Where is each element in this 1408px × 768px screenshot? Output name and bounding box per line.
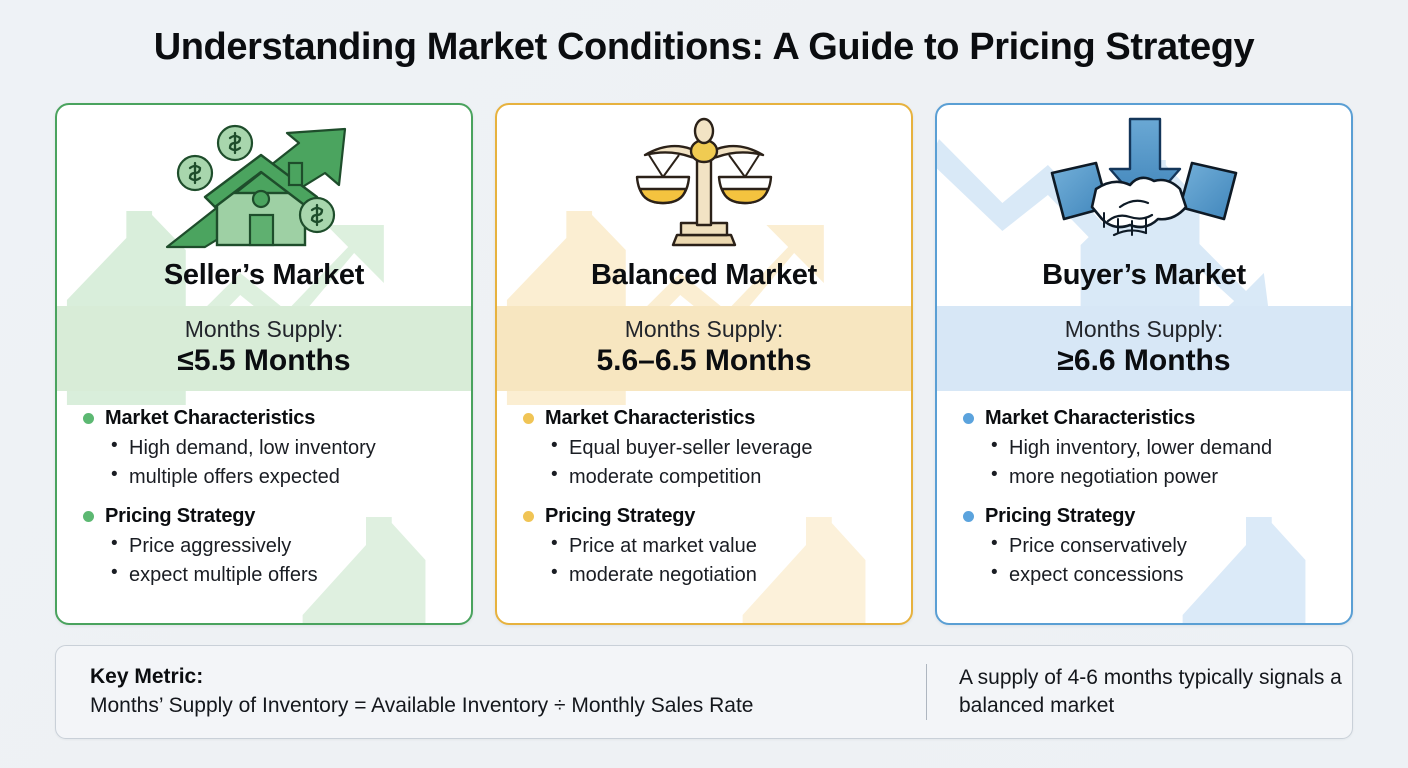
list-item: Equal buyer-seller leverage [551, 434, 911, 462]
section-items: Price aggressively expect multiple offer… [83, 532, 471, 589]
buyers-icon-area [937, 105, 1351, 257]
section-items: Price conservatively expect concessions [963, 532, 1351, 589]
list-item: High demand, low inventory [111, 434, 471, 462]
bullet-dot-icon [83, 511, 94, 522]
market-card-balanced[interactable]: Balanced Market Months Supply: 5.6–6.5 M… [495, 103, 913, 625]
key-metric-label: Key Metric: [90, 664, 926, 690]
section-heading-row: Market Characteristics [963, 407, 1351, 430]
balance-scale-icon [629, 117, 779, 253]
section-items: High demand, low inventory multiple offe… [83, 434, 471, 491]
section-items: High inventory, lower demand more negoti… [963, 434, 1351, 491]
bullet-dot-icon [523, 511, 534, 522]
section-heading-row: Pricing Strategy [963, 505, 1351, 528]
supply-band-balanced: Months Supply: 5.6–6.5 Months [497, 306, 911, 391]
section-pricing-strategy-buyers: Pricing Strategy Price conservatively ex… [963, 505, 1351, 589]
list-item: more negotiation power [991, 463, 1351, 491]
section-heading-row: Market Characteristics [523, 407, 911, 430]
key-metric-formula: Months’ Supply of Inventory = Available … [90, 692, 926, 720]
section-pricing-strategy-sellers: Pricing Strategy Price aggressively expe… [83, 505, 471, 589]
list-item: Price aggressively [111, 532, 471, 560]
sections-balanced: Market Characteristics Equal buyer-selle… [497, 391, 911, 589]
house-rising-arrow-money-icon [149, 115, 379, 255]
list-item: moderate negotiation [551, 561, 911, 589]
section-heading-text: Pricing Strategy [105, 505, 255, 528]
sellers-icon-area [57, 105, 471, 257]
page-title: Understanding Market Conditions: A Guide… [0, 26, 1408, 69]
section-items: Equal buyer-seller leverage moderate com… [523, 434, 911, 491]
handshake-down-arrow-icon [1034, 115, 1254, 255]
section-market-characteristics-buyers: Market Characteristics High inventory, l… [963, 407, 1351, 491]
list-item: expect multiple offers [111, 561, 471, 589]
sections-sellers: Market Characteristics High demand, low … [57, 391, 471, 589]
section-items: Price at market value moderate negotiati… [523, 532, 911, 589]
market-card-sellers[interactable]: Seller’s Market Months Supply: ≤5.5 Mont… [55, 103, 473, 625]
section-heading-row: Pricing Strategy [83, 505, 471, 528]
card-title-buyers: Buyer’s Market [937, 259, 1351, 306]
section-market-characteristics-balanced: Market Characteristics Equal buyer-selle… [523, 407, 911, 491]
section-pricing-strategy-balanced: Pricing Strategy Price at market value m… [523, 505, 911, 589]
market-cards-row: Seller’s Market Months Supply: ≤5.5 Mont… [55, 103, 1353, 625]
supply-value-buyers: ≥6.6 Months [937, 343, 1351, 379]
key-metric-note: A supply of 4-6 months typically signals… [927, 664, 1352, 721]
supply-label-buyers: Months Supply: [937, 316, 1351, 342]
supply-value-sellers: ≤5.5 Months [57, 343, 471, 379]
bullet-dot-icon [83, 413, 94, 424]
list-item: moderate competition [551, 463, 911, 491]
section-market-characteristics-sellers: Market Characteristics High demand, low … [83, 407, 471, 491]
supply-label-sellers: Months Supply: [57, 316, 471, 342]
supply-label-balanced: Months Supply: [497, 316, 911, 342]
bullet-dot-icon [963, 413, 974, 424]
balanced-icon-area [497, 105, 911, 257]
supply-value-balanced: 5.6–6.5 Months [497, 343, 911, 379]
section-heading-row: Pricing Strategy [523, 505, 911, 528]
section-heading-row: Market Characteristics [83, 407, 471, 430]
key-metric-left: Key Metric: Months’ Supply of Inventory … [56, 664, 926, 721]
market-card-buyers[interactable]: Buyer’s Market Months Supply: ≥6.6 Month… [935, 103, 1353, 625]
card-title-sellers: Seller’s Market [57, 259, 471, 306]
section-heading-text: Pricing Strategy [545, 505, 695, 528]
section-heading-text: Market Characteristics [105, 407, 315, 430]
bullet-dot-icon [523, 413, 534, 424]
list-item: Price at market value [551, 532, 911, 560]
list-item: Price conservatively [991, 532, 1351, 560]
bullet-dot-icon [963, 511, 974, 522]
section-heading-text: Market Characteristics [985, 407, 1195, 430]
sections-buyers: Market Characteristics High inventory, l… [937, 391, 1351, 589]
key-metric-panel: Key Metric: Months’ Supply of Inventory … [55, 645, 1353, 739]
supply-band-buyers: Months Supply: ≥6.6 Months [937, 306, 1351, 391]
section-heading-text: Pricing Strategy [985, 505, 1135, 528]
list-item: multiple offers expected [111, 463, 471, 491]
card-title-balanced: Balanced Market [497, 259, 911, 306]
infographic-page: Understanding Market Conditions: A Guide… [0, 0, 1408, 768]
supply-band-sellers: Months Supply: ≤5.5 Months [57, 306, 471, 391]
section-heading-text: Market Characteristics [545, 407, 755, 430]
list-item: expect concessions [991, 561, 1351, 589]
list-item: High inventory, lower demand [991, 434, 1351, 462]
